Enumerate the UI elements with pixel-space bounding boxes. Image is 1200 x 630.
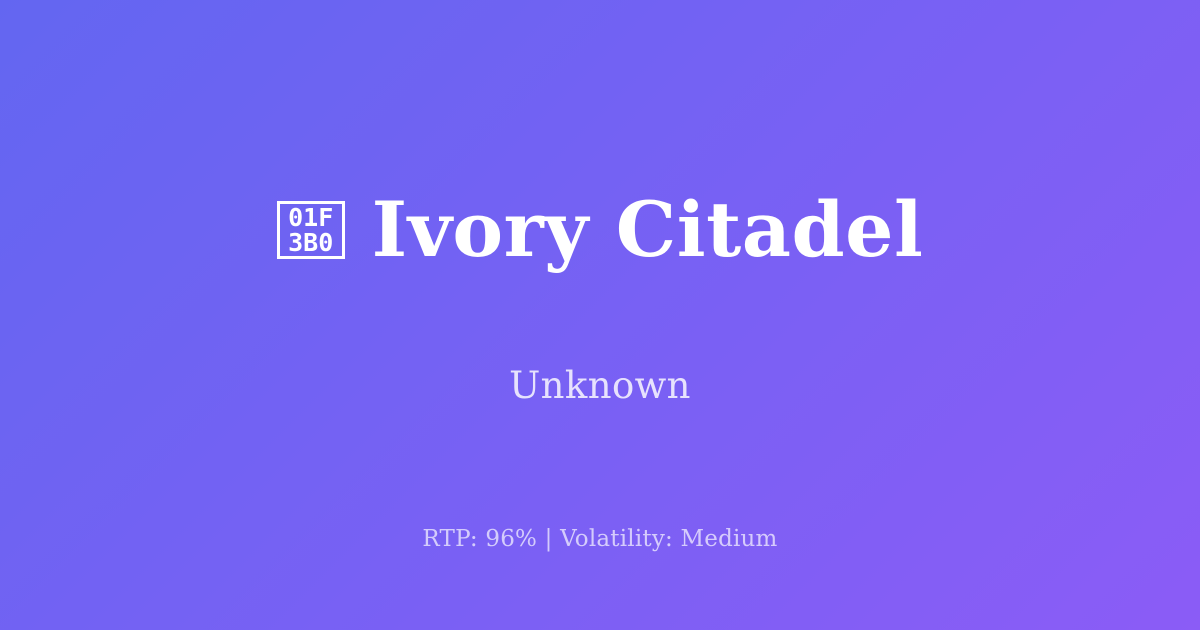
slot-machine-icon-codepoint-low: 3B0 [288,230,333,255]
game-meta-line: RTP: 96% | Volatility: Medium [0,527,1200,552]
page-subtitle: Unknown [509,366,691,407]
og-card: 01F 3B0 Ivory Citadel Unknown RTP: 96% |… [0,0,1200,630]
slot-machine-icon: 01F 3B0 [277,201,345,259]
title-row: 01F 3B0 Ivory Citadel [277,139,924,321]
page-title: Ivory Citadel [372,190,924,270]
hero-block: 01F 3B0 Ivory Citadel Unknown [0,139,1200,407]
slot-machine-icon-codepoint-high: 01F [288,205,333,230]
